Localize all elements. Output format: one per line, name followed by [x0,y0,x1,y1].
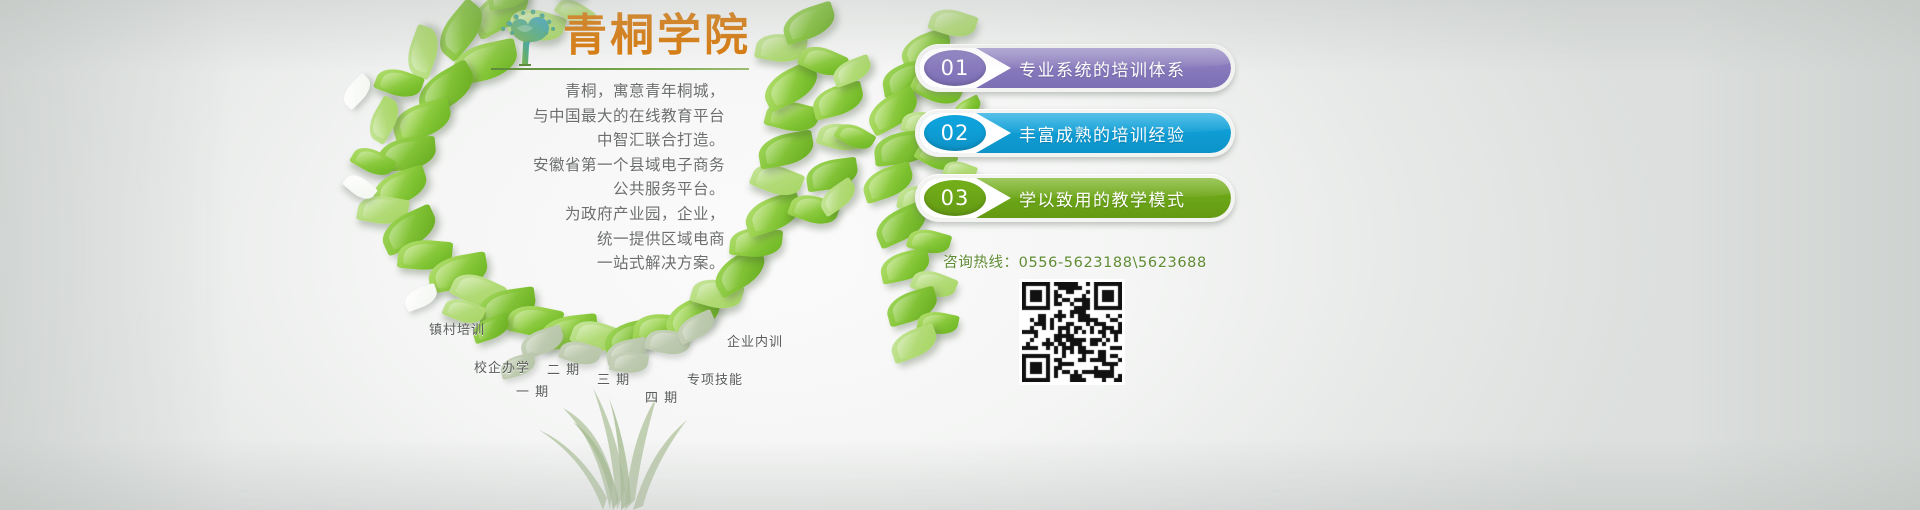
brand-underline [491,68,749,70]
feature-badge-03[interactable]: 03学以致用的教学模式 [915,174,1235,222]
hotline-text: 咨询热线：0556-5623188\5623688 [915,251,1235,272]
leaf [338,73,375,110]
bottom-label: 镇村培训 [429,319,485,338]
intro-line: 安徽省第一个县域电子商务 [420,153,725,178]
tree-icon [489,8,561,66]
intro-line: 与中国最大的在线教育平台 [420,104,725,129]
feature-badge-02[interactable]: 02丰富成熟的培训经验 [915,109,1235,157]
badge-number: 02 [924,115,986,151]
bottom-label: 一 期 [516,381,549,400]
bottom-label: 企业内训 [727,331,783,350]
feature-badge-list: 01专业系统的培训体系02丰富成熟的培训经验03学以致用的教学模式 [915,44,1235,239]
intro-line: 公共服务平台。 [420,177,725,202]
intro-line: 统一提供区域电商 [420,227,725,252]
intro-line: 一站式解决方案。 [420,251,725,276]
qr-code[interactable] [1019,279,1125,385]
bottom-label: 三 期 [597,369,630,388]
badge-inner: 01专业系统的培训体系 [919,48,1231,88]
bottom-label: 四 期 [645,387,678,406]
badge-label: 专业系统的培训体系 [1019,48,1221,88]
badge-inner: 03学以致用的教学模式 [919,178,1231,218]
intro-line: 为政府产业园，企业， [420,202,725,227]
leaf [756,129,817,169]
badge-number: 01 [924,50,986,86]
bottom-label: 校企办学 [474,357,530,376]
intro-line: 中智汇联合打造。 [420,128,725,153]
intro-line: 青桐，寓意青年桐城， [420,79,725,104]
bottom-label: 二 期 [547,359,580,378]
intro-paragraph: 青桐，寓意青年桐城，与中国最大的在线教育平台中智汇联合打造。安徽省第一个县域电子… [420,79,725,276]
feature-badge-01[interactable]: 01专业系统的培训体系 [915,44,1235,92]
leaf [402,283,440,312]
leaf [779,0,840,45]
badge-label: 学以致用的教学模式 [1019,178,1221,218]
leaf [887,323,941,365]
bottom-label: 专项技能 [687,369,743,388]
brand-logo[interactable]: 青桐学院 [489,6,751,76]
badge-number: 03 [924,180,986,216]
badge-inner: 02丰富成熟的培训经验 [919,113,1231,153]
banner-stage: 青桐学院 青桐，寓意青年桐城，与中国最大的在线教育平台中智汇联合打造。安徽省第一… [0,0,1920,510]
badge-label: 丰富成熟的培训经验 [1019,113,1221,153]
brand-title: 青桐学院 [563,10,751,62]
